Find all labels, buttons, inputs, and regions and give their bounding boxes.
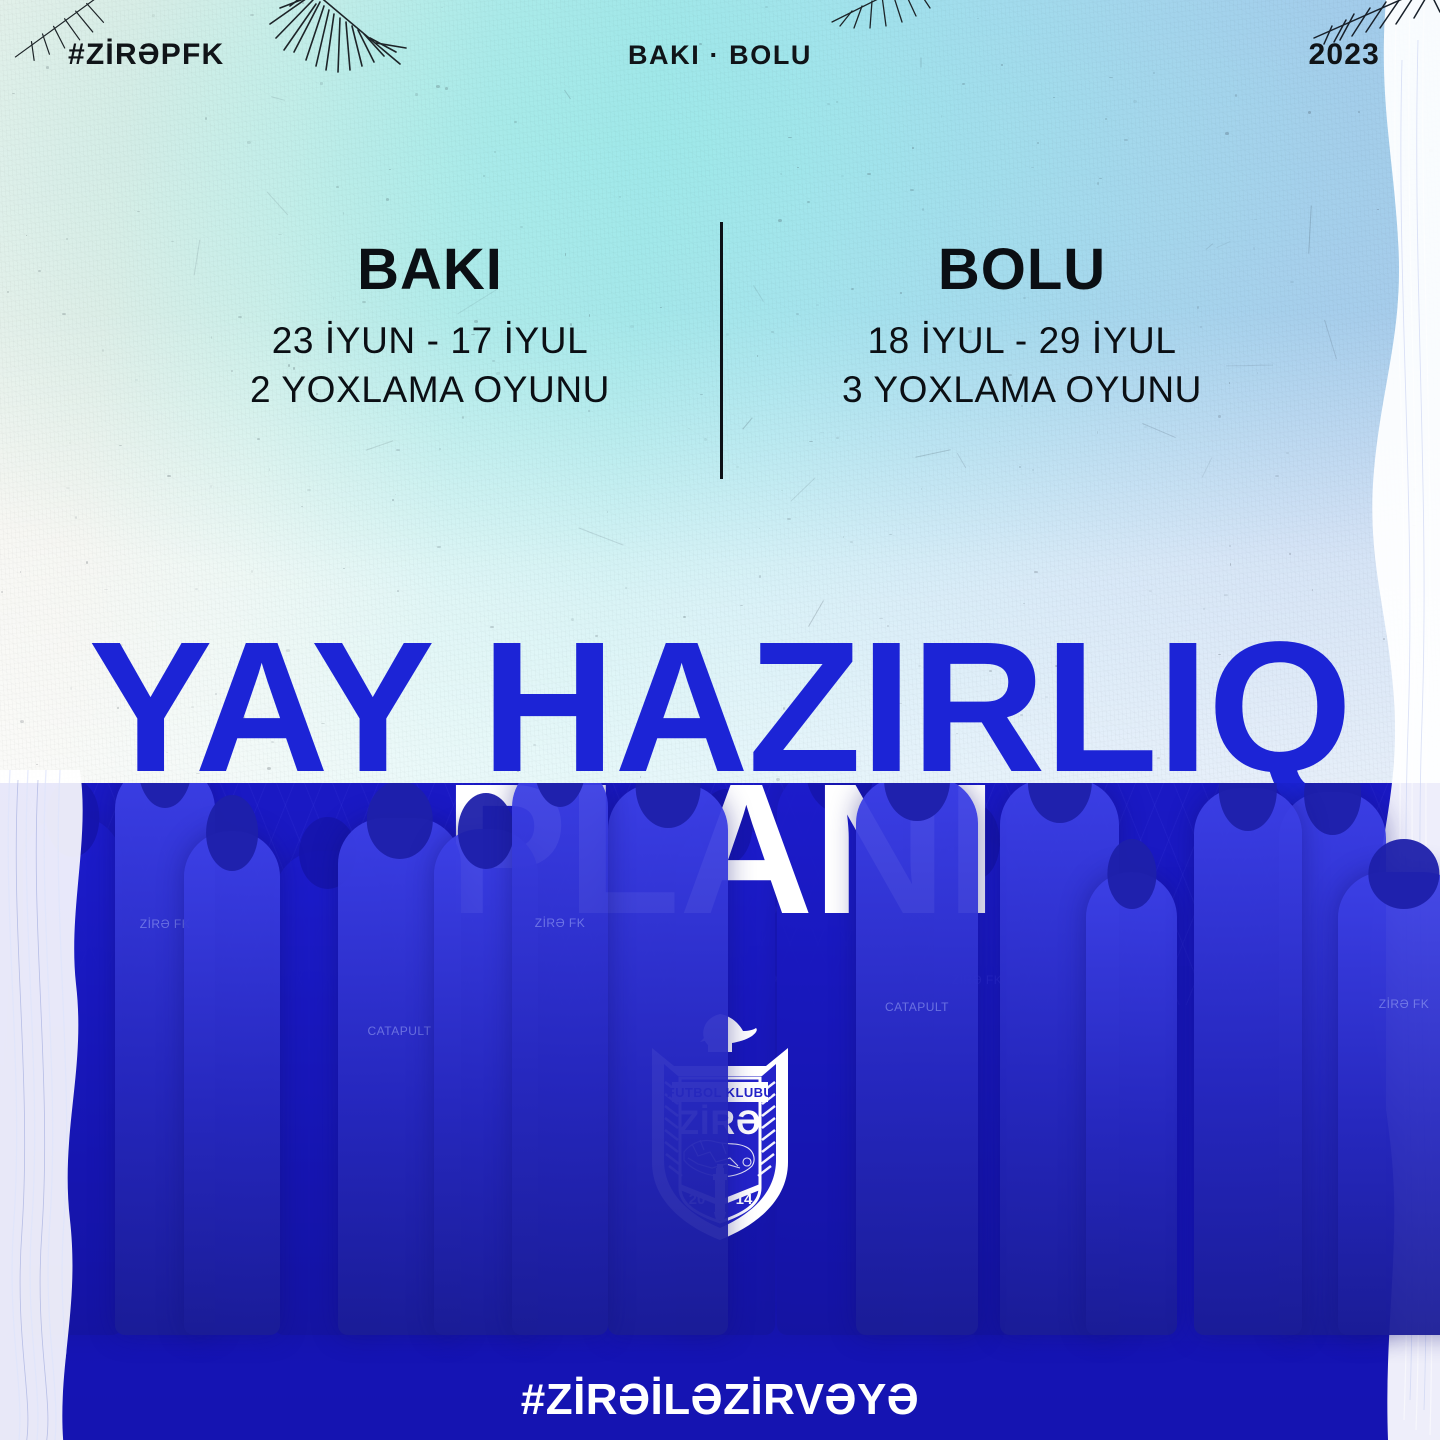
- player-silhouette: [1086, 872, 1177, 1335]
- camp-city-name: BOLU: [722, 240, 1322, 301]
- footer-hashtag: #ZİRƏİLƏZİRVƏYƏ: [0, 1375, 1440, 1425]
- player-silhouette: [184, 831, 280, 1335]
- camp-friendly-count: 3 YOXLAMA OYUNU: [722, 366, 1322, 415]
- player-silhouette: [608, 784, 728, 1335]
- bottom-blue-panel: ZİRƏ FKCATAPULTZİRƏ FKCATAPULTZİRƏ FKZİR…: [0, 783, 1440, 1440]
- camp-friendly-count: 2 YOXLAMA OYUNU: [140, 366, 720, 415]
- camps-section: BAKI 23 İYUN - 17 İYUL 2 YOXLAMA OYUNU B…: [0, 240, 1440, 490]
- player-silhouette: ZİRƏ FK: [1338, 872, 1440, 1335]
- camp-date-range: 18 İYUL - 29 İYUL: [722, 317, 1322, 366]
- crest-year-right: 14: [736, 1191, 753, 1208]
- player-silhouette: ZİRƏ FK: [512, 783, 608, 1335]
- camp-block-baki: BAKI 23 İYUN - 17 İYUL 2 YOXLAMA OYUNU: [140, 240, 720, 415]
- header-club-hashtag: #ZİRƏPFK: [68, 38, 224, 72]
- camp-block-bolu: BOLU 18 İYUL - 29 İYUL 3 YOXLAMA OYUNU: [722, 240, 1322, 415]
- player-silhouette: CATAPULT: [856, 783, 978, 1335]
- camp-date-range: 23 İYUN - 17 İYUL: [140, 317, 720, 366]
- poster-header: #ZİRƏPFK BAKI · BOLU 2023: [0, 34, 1440, 76]
- poster-root: ZİRƏ FKCATAPULTZİRƏ FKCATAPULTZİRƏ FKZİR…: [0, 0, 1440, 1440]
- header-route-label: BAKI · BOLU: [628, 40, 812, 71]
- header-year: 2023: [1308, 38, 1380, 72]
- player-silhouette: [1194, 788, 1302, 1335]
- camp-city-name: BAKI: [140, 240, 720, 301]
